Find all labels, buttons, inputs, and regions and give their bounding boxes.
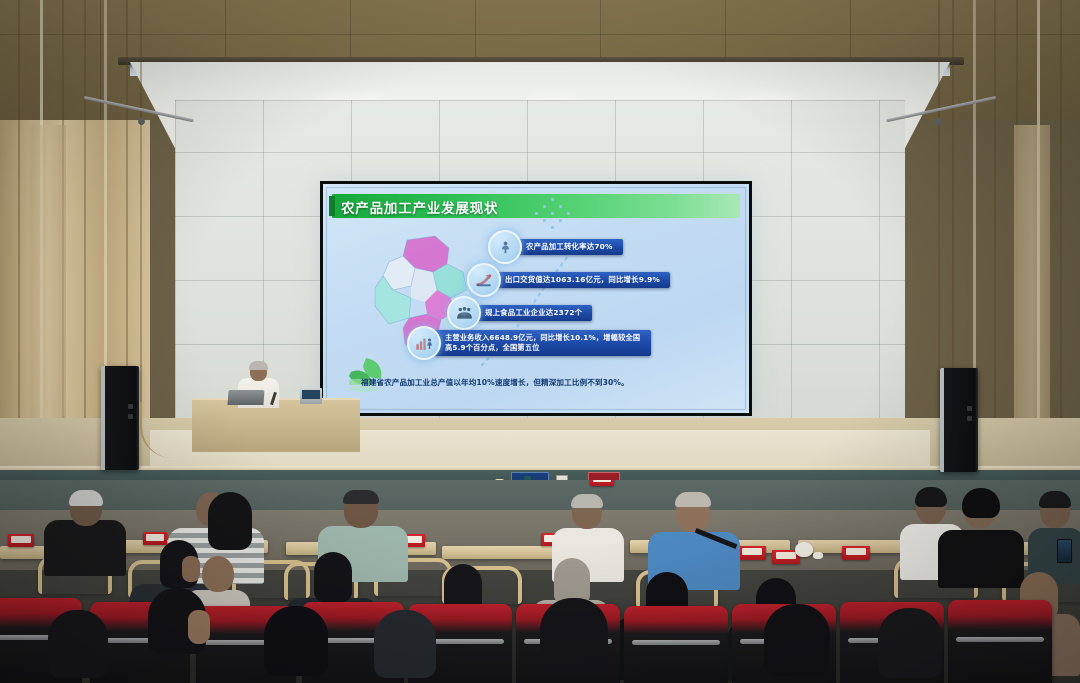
slide-bullet-1[interactable]: 农产品加工转化率达70% (488, 230, 623, 264)
monitor-screen (302, 390, 320, 399)
presenter-laptop (227, 390, 264, 405)
audience-person-8 (1028, 494, 1080, 578)
left-pa-port-2 (128, 414, 133, 419)
audience-person-21 (758, 604, 852, 683)
audience-person-17 (140, 588, 220, 683)
confidence-monitor (300, 388, 322, 404)
right-pa-port-2 (967, 416, 972, 421)
audience-person-20 (534, 598, 630, 683)
slide-bullet-2-text: 出口交货值达1063.16亿元，同比增长9.9% (493, 272, 670, 289)
right-pa-speaker (940, 368, 978, 472)
right-pa-port-1 (967, 406, 972, 411)
left-pa-port-1 (128, 404, 133, 409)
namecard-1 (8, 534, 34, 547)
audience-phone[interactable] (1056, 538, 1073, 564)
presenter-hair (249, 361, 268, 370)
left-pa-speaker (101, 366, 139, 470)
audience-person-7 (938, 492, 1024, 584)
right-wall-niche (1014, 125, 1050, 425)
left-rail-cap (138, 118, 145, 125)
slide-bullet-2[interactable]: 出口交货值达1063.16亿元，同比增长9.9% (467, 263, 670, 297)
growth-arrow-icon (467, 263, 501, 297)
bar-chart-icon (407, 326, 441, 360)
screenshot-root: 农产品加工产业发展现状 (0, 0, 1080, 683)
person-icon (488, 230, 522, 264)
teapot-1 (795, 542, 813, 557)
audience-person-19 (370, 610, 456, 683)
audience-person-1 (44, 492, 126, 572)
audience-person-18 (258, 606, 348, 683)
audience-person-22 (872, 608, 964, 683)
slide-bullet-4[interactable]: 主营业务收入6648.9亿元，同比增长10.1%，增幅较全国高5.9个百分点，全… (407, 326, 651, 360)
audience-area (0, 480, 1080, 683)
slide-bullet-3-text: 规上食品工业企业达2372个 (473, 305, 592, 322)
left-wall-niche (30, 125, 66, 425)
right-rail-cap (935, 118, 942, 125)
conference-room: 农产品加工产业发展现状 (0, 0, 1080, 683)
factory-icon (447, 296, 481, 330)
presentation-slide: 农产品加工产业发展现状 (323, 184, 749, 413)
namecard-8 (842, 546, 870, 560)
slide-title: 农产品加工产业发展现状 (341, 197, 498, 217)
seat-7[interactable] (624, 606, 728, 683)
namecard-6 (738, 546, 766, 560)
slide-bullet-3[interactable]: 规上食品工业企业达2372个 (447, 296, 592, 330)
audience-person-23 (44, 610, 132, 683)
slide-footnote: 福建省农产品加工业总产值以年均10%速度增长，但精深加工比例不到30%。 (361, 377, 749, 388)
namecard-10 (590, 480, 614, 486)
projection-screen[interactable]: 农产品加工产业发展现状 (320, 181, 752, 416)
green-leaf-logo (345, 356, 387, 394)
teacup-1 (813, 552, 823, 559)
slide-bullet-1-text: 农产品加工转化率达70% (514, 239, 623, 256)
slide-bullet-4-text: 主营业务收入6648.9亿元，同比增长10.1%，增幅较全国高5.9个百分点，全… (433, 330, 651, 357)
